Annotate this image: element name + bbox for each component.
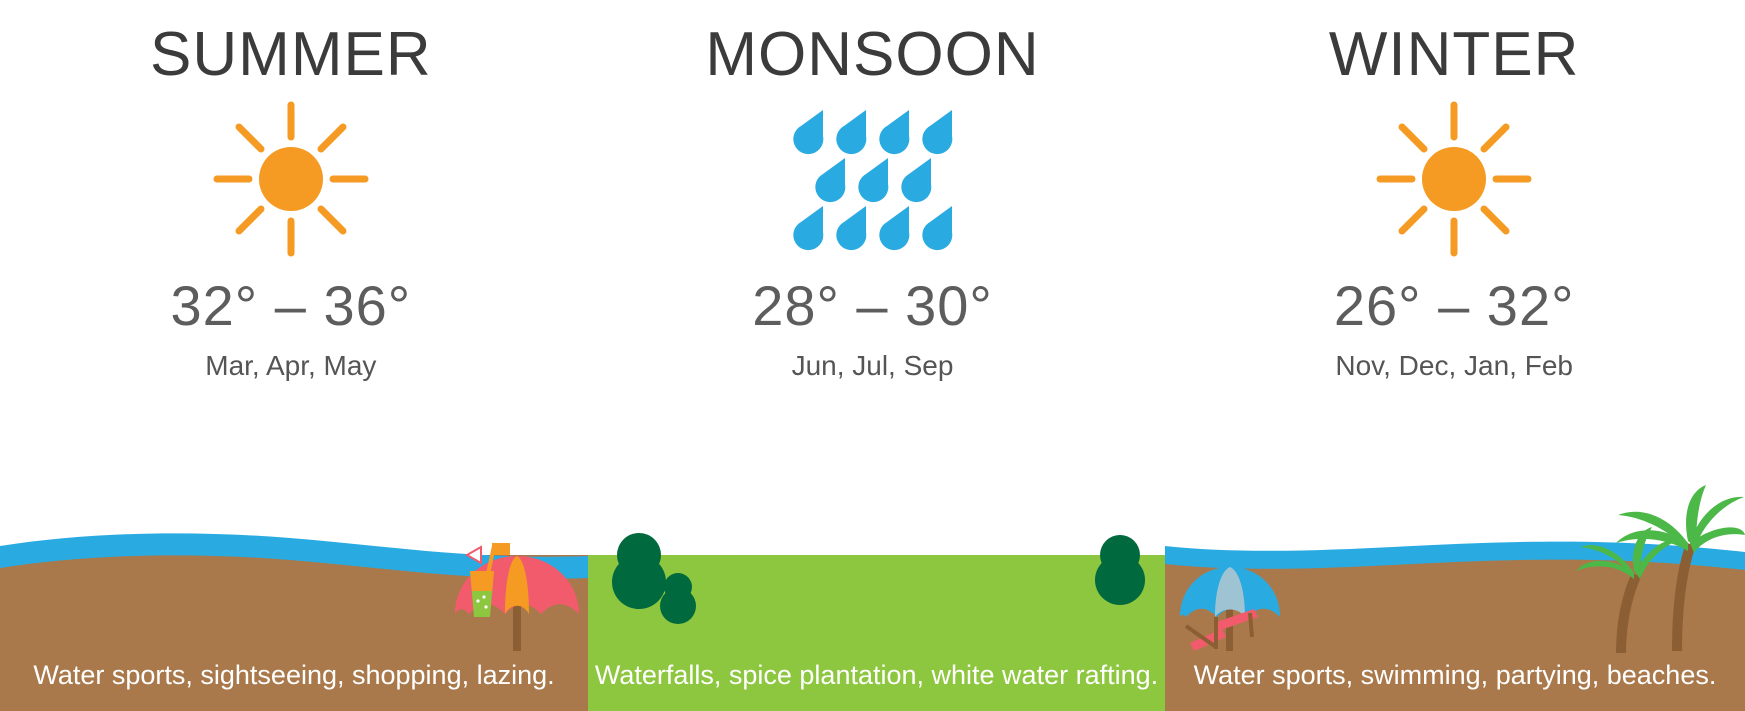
weather-icon-winter — [1374, 99, 1534, 259]
activities-caption-monsoon: Waterfalls, spice plantation, white wate… — [588, 658, 1165, 693]
season-months-summer: Mar, Apr, May — [205, 350, 376, 382]
sun-icon — [1374, 99, 1534, 259]
season-temperature-monsoon: 28° – 30° — [752, 273, 993, 338]
sun-icon — [211, 99, 371, 259]
season-title-monsoon: MONSOON — [705, 22, 1039, 87]
activities-caption-summer: Water sports, sightseeing, shopping, laz… — [0, 658, 588, 693]
rain-drops-icon — [783, 104, 963, 254]
season-months-winter: Nov, Dec, Jan, Feb — [1335, 350, 1573, 382]
season-months-monsoon: Jun, Jul, Sep — [792, 350, 954, 382]
seasons-infographic: SUMMER 32° – 36° Ma — [0, 0, 1745, 711]
weather-icon-summer — [211, 99, 371, 259]
season-title-winter: WINTER — [1329, 22, 1580, 87]
season-temperature-winter: 26° – 32° — [1334, 273, 1575, 338]
season-columns: SUMMER 32° – 36° Ma — [0, 0, 1745, 460]
season-column-winter: WINTER 26° – 32° No — [1163, 0, 1745, 460]
weather-icon-monsoon — [783, 99, 963, 259]
activities-caption-winter: Water sports, swimming, partying, beache… — [1165, 658, 1745, 693]
season-column-summer: SUMMER 32° – 36° Ma — [0, 0, 582, 460]
season-temperature-summer: 32° – 36° — [171, 273, 412, 338]
season-column-monsoon: MONSOON — [582, 0, 1164, 460]
season-title-summer: SUMMER — [150, 22, 432, 87]
